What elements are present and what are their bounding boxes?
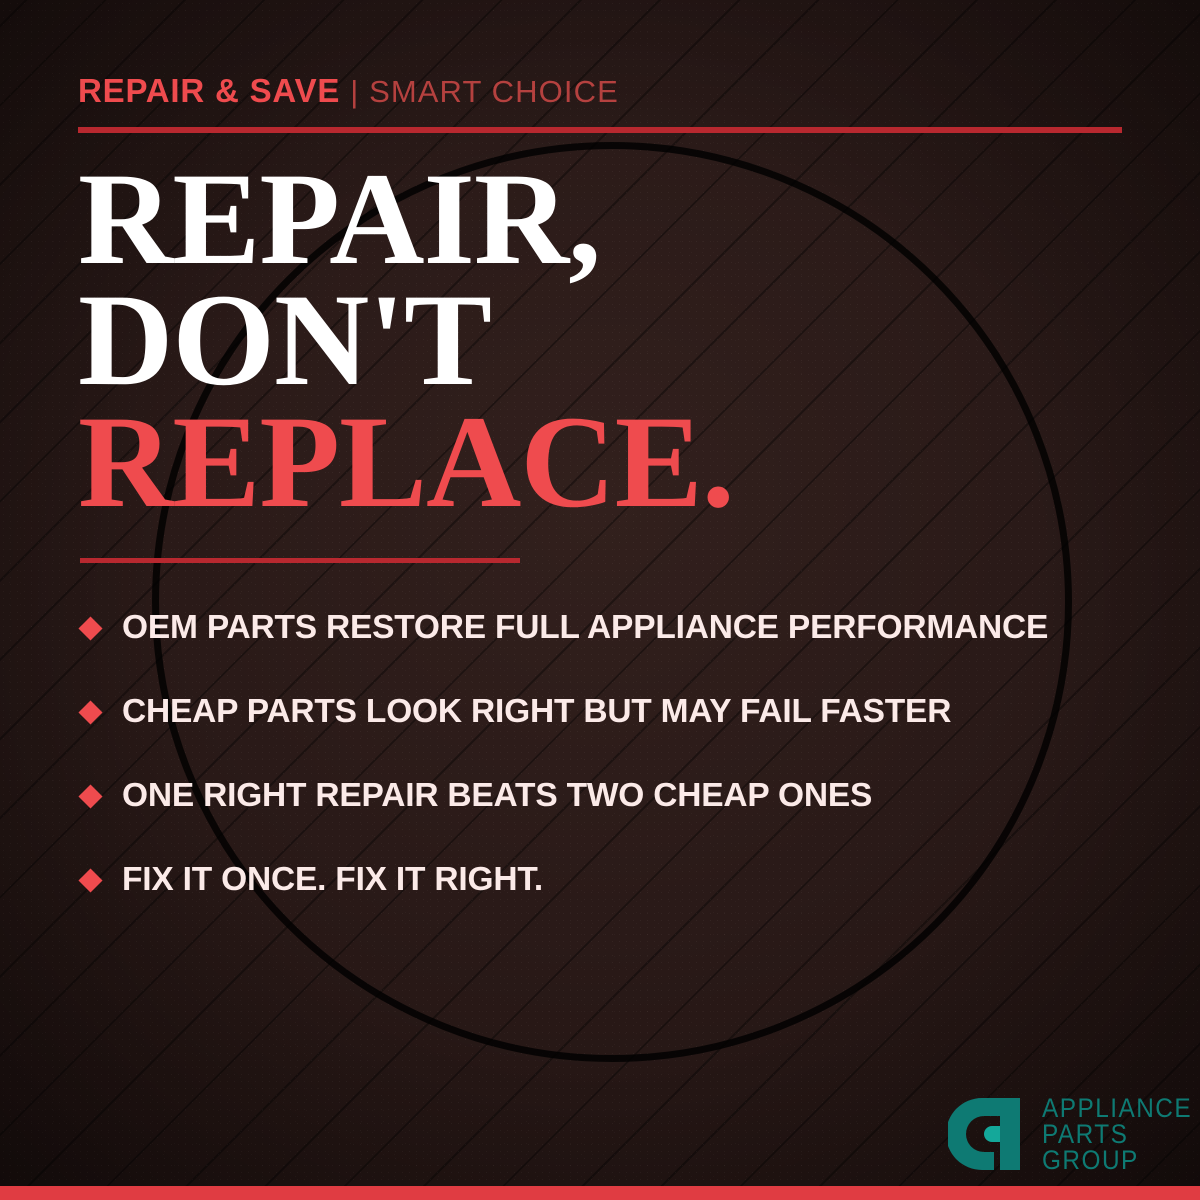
list-item: CHEAP PARTS LOOK RIGHT BUT MAY FAIL FAST… [78,670,1158,754]
headline-line-1: REPAIR, [78,158,1138,279]
eyebrow-light-text: | SMART CHOICE [350,74,619,109]
promotional-poster: REPAIR & SAVE| SMART CHOICE REPAIR, DON'… [0,0,1200,1200]
brand-logo-line-3: GROUP [1042,1147,1192,1173]
headline-line-2: DON'T [78,279,1138,400]
bottom-accent-bar [0,1186,1200,1200]
diamond-bullet-icon [78,868,102,892]
headline: REPAIR, DON'T REPLACE. [78,158,1138,522]
poster-content: REPAIR & SAVE| SMART CHOICE REPAIR, DON'… [0,0,1200,1200]
eyebrow: REPAIR & SAVE| SMART CHOICE [78,74,619,107]
brand-logo: APPLIANCE PARTS GROUP [948,1092,1200,1176]
diamond-bullet-icon [78,616,102,640]
header-divider-rule [78,127,1122,133]
list-item: ONE RIGHT REPAIR BEATS TWO CHEAP ONES [78,754,1158,838]
brand-logo-line-1: APPLIANCE [1042,1095,1192,1121]
list-item-label: ONE RIGHT REPAIR BEATS TWO CHEAP ONES [122,777,872,815]
diamond-bullet-icon [78,784,102,808]
diamond-bullet-icon [78,700,102,724]
g-monogram-icon [948,1092,1030,1176]
list-item: FIX IT ONCE. FIX IT RIGHT. [78,838,1158,922]
benefits-list: OEM PARTS RESTORE FULL APPLIANCE PERFORM… [78,586,1158,922]
brand-logo-wordmark: APPLIANCE PARTS GROUP [1042,1092,1200,1174]
headline-line-3: REPLACE. [78,401,1138,522]
brand-logo-line-2: PARTS [1042,1121,1192,1147]
list-item-label: OEM PARTS RESTORE FULL APPLIANCE PERFORM… [122,609,1048,647]
eyebrow-strong-text: REPAIR & SAVE [78,72,340,109]
list-item: OEM PARTS RESTORE FULL APPLIANCE PERFORM… [78,586,1158,670]
list-item-label: CHEAP PARTS LOOK RIGHT BUT MAY FAIL FAST… [122,693,951,731]
list-item-label: FIX IT ONCE. FIX IT RIGHT. [122,861,543,899]
bullets-divider-rule [80,558,520,563]
